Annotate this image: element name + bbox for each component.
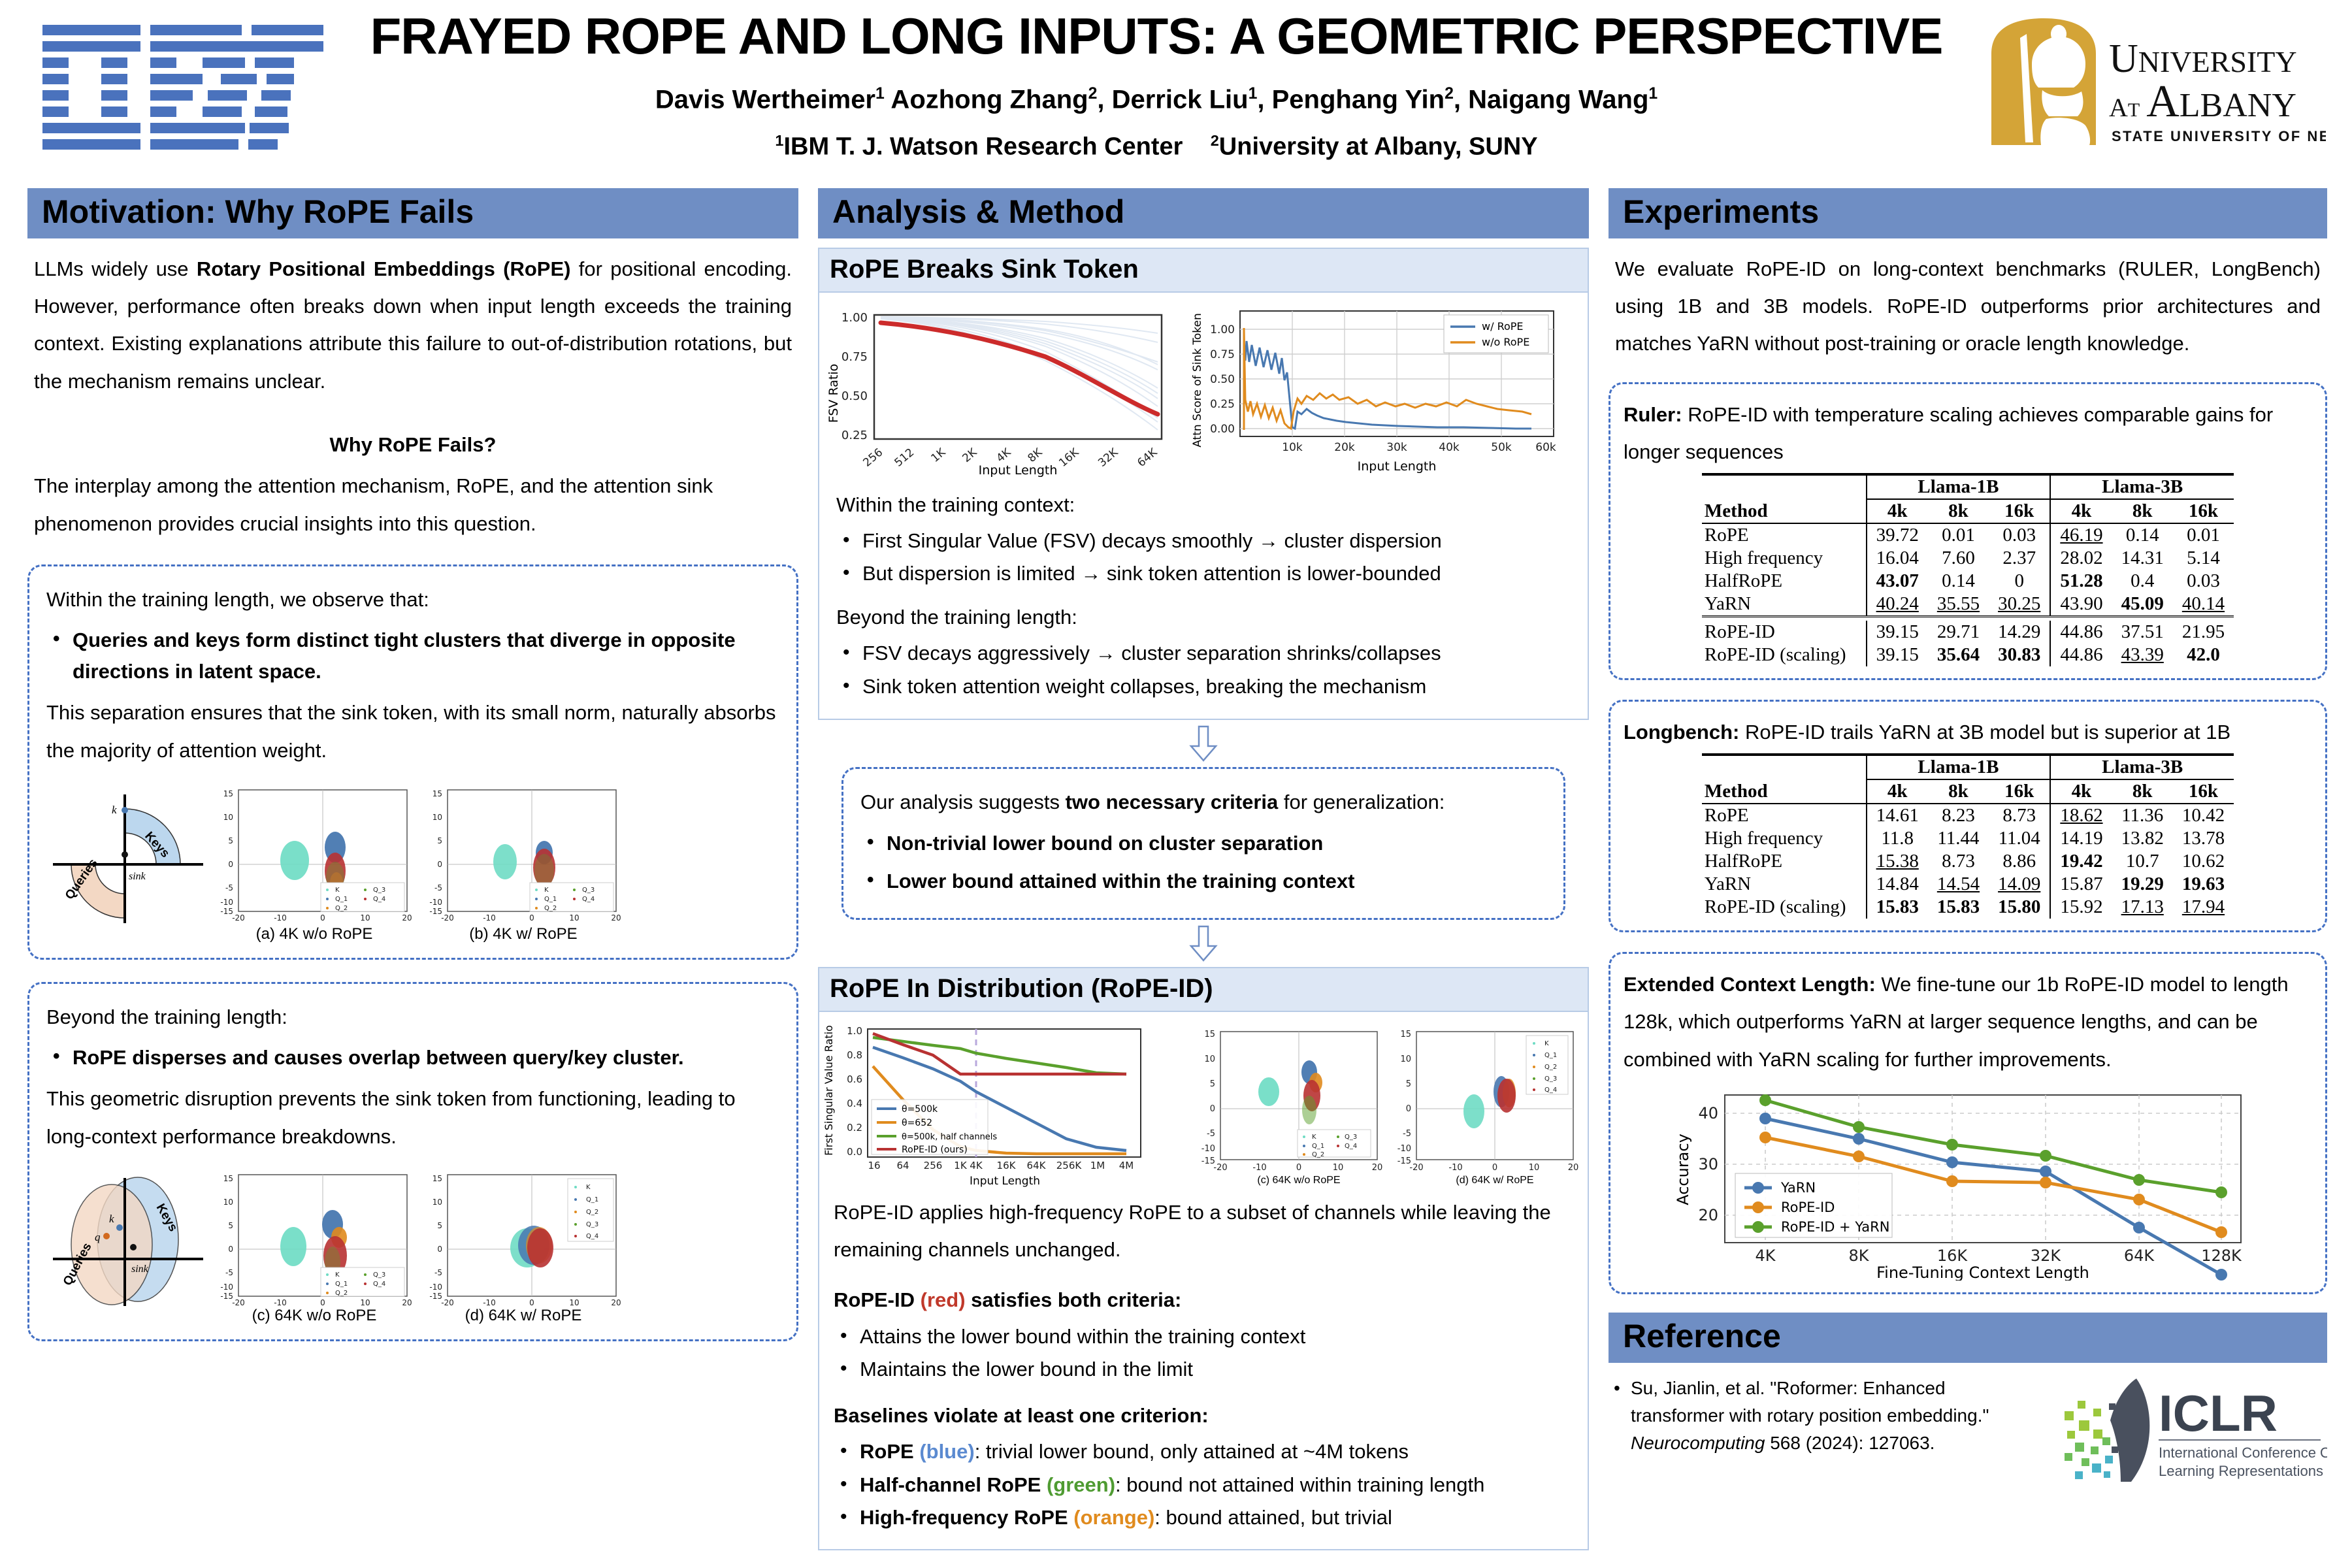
svg-text:-10: -10 (220, 898, 233, 907)
svg-text:Q_1: Q_1 (335, 1281, 348, 1288)
svg-text:30: 30 (1698, 1155, 1718, 1173)
arrow-down-icon-2 (1189, 925, 1218, 962)
svg-text:10: 10 (433, 813, 442, 822)
svg-text:4K: 4K (1755, 1247, 1776, 1265)
svg-text:15: 15 (1204, 1030, 1215, 1039)
svg-text:Q_3: Q_3 (586, 1221, 598, 1228)
group-header: Llama-1B (1867, 755, 2051, 779)
svg-text:Q_1: Q_1 (1312, 1143, 1324, 1150)
svg-text:Q_3: Q_3 (373, 1271, 385, 1279)
column-motivation: Motivation: Why RoPE Fails LLMs widely u… (27, 188, 798, 1341)
cell-value: 39.15 (1867, 644, 1928, 666)
iclr-logo: ICLR International Conference On Learnin… (2053, 1375, 2327, 1486)
chart-fsv-ratio: FSV Ratio 1.000.75 0.500.25 (823, 302, 1189, 478)
longbench-table-body: RoPE14.618.238.7318.6211.3610.42High fre… (1702, 804, 2234, 919)
svg-text:-10: -10 (220, 1282, 233, 1292)
figure-caption-b: (b) 4K w/ RoPE (419, 925, 628, 943)
svg-text:K: K (1544, 1040, 1549, 1047)
table-row: High frequency16.047.602.3728.0214.315.1… (1702, 547, 2234, 570)
svg-text:2K: 2K (960, 445, 980, 465)
motivation-intro-paragraph: LLMs widely use Rotary Positional Embedd… (34, 250, 792, 400)
svg-text:1.0: 1.0 (847, 1025, 862, 1037)
svg-text:5: 5 (1210, 1079, 1215, 1089)
svg-text:15: 15 (433, 1174, 442, 1183)
svg-text:-5: -5 (225, 883, 233, 892)
panel-title-rope-id: RoPE In Distribution (RoPE-ID) (819, 968, 1588, 1012)
svg-text:Q_1: Q_1 (544, 896, 557, 903)
svg-text:0: 0 (1492, 1163, 1497, 1173)
svg-text:sink: sink (129, 871, 146, 882)
cell-value: 15.83 (1928, 896, 1989, 919)
svg-text:0: 0 (1296, 1163, 1301, 1173)
svg-text:UNIVERSITY: UNIVERSITY (2109, 37, 2297, 81)
svg-text:-10: -10 (1448, 1163, 1462, 1173)
cell-value: 40.14 (2173, 593, 2234, 617)
cell-value: 0.4 (2112, 570, 2173, 593)
svg-text:0: 0 (1210, 1104, 1215, 1114)
svg-text:-20: -20 (1213, 1163, 1227, 1173)
observation-box-within-training: Within the training length, we observe t… (27, 564, 798, 960)
list-item: Half-channel RoPE (green): bound not att… (834, 1470, 1573, 1501)
cell-value: 14.19 (2050, 827, 2112, 850)
cell-value: 13.78 (2173, 827, 2234, 850)
cell-value: 14.84 (1867, 873, 1928, 896)
svg-text:40k: 40k (1439, 441, 1460, 454)
cell-value: 8.86 (1989, 850, 2050, 873)
iclr-wordmark: ICLR (2159, 1384, 2278, 1442)
cell-value: 7.60 (1928, 547, 1989, 570)
svg-text:20: 20 (402, 1298, 412, 1307)
iclr-subtitle-line1: International Conference On (2159, 1445, 2327, 1461)
svg-text:-10: -10 (274, 913, 287, 923)
list-item: RoPE disperses and causes overlap betwee… (46, 1042, 779, 1073)
cell-value: 29.71 (1928, 621, 1989, 644)
svg-text:15: 15 (1400, 1030, 1411, 1039)
svg-text:64K: 64K (1027, 1160, 1047, 1171)
column-header-method: Method (1702, 779, 1867, 804)
cell-method: YaRN (1702, 873, 1867, 896)
column-header-method: Method (1702, 499, 1867, 523)
svg-text:RoPE-ID (ours): RoPE-ID (ours) (902, 1145, 968, 1155)
cell-value: 43.90 (2050, 593, 2112, 617)
criteria-box: Our analysis suggests two necessary crit… (841, 767, 1565, 919)
list-item: FSV decays aggressively → cluster separa… (836, 638, 1571, 669)
author-list: Davis Wertheimer1 Aozhong Zhang2, Derric… (340, 85, 1973, 114)
beyond-context-bullets: FSV decays aggressively → cluster separa… (836, 638, 1571, 702)
panel-title-rope-breaks: RoPE Breaks Sink Token (819, 249, 1588, 293)
svg-text:1.00: 1.00 (1210, 323, 1235, 336)
cell-value: 37.51 (2112, 621, 2173, 644)
svg-text:40: 40 (1698, 1104, 1718, 1122)
svg-text:Input Length: Input Length (979, 463, 1058, 478)
affiliation-list: 1IBM T. J. Watson Research Center 2Unive… (340, 132, 1973, 161)
svg-text:Q_1: Q_1 (1544, 1052, 1557, 1059)
svg-text:-15: -15 (429, 1292, 442, 1301)
svg-text:Q_3: Q_3 (582, 887, 595, 894)
svg-text:K: K (586, 1184, 591, 1191)
svg-text:-20: -20 (1409, 1163, 1423, 1173)
table-row: High frequency11.811.4411.0414.1913.8213… (1702, 827, 2234, 850)
svg-text:K: K (1312, 1134, 1316, 1141)
within-context-bullets: First Singular Value (FSV) decays smooth… (836, 526, 1571, 589)
svg-text:-10: -10 (483, 1298, 496, 1307)
figure-caption-a: (a) 4K w/o RoPE (210, 925, 419, 943)
svg-text:20: 20 (402, 913, 412, 923)
beyond-lead: Beyond the training length: (46, 998, 779, 1036)
svg-text:Attn Score of Sink Token: Attn Score of Sink Token (1191, 313, 1204, 448)
svg-text:Q_2: Q_2 (544, 905, 557, 912)
svg-text:0.6: 0.6 (847, 1073, 862, 1085)
svg-text:-5: -5 (1403, 1129, 1411, 1139)
svg-text:Accuracy: Accuracy (1674, 1134, 1692, 1205)
svg-text:1.00: 1.00 (841, 311, 868, 325)
cell-value: 39.72 (1867, 523, 1928, 547)
group-header: Llama-3B (2050, 474, 2234, 499)
within-context-lead: Within the training context: (836, 486, 1571, 523)
svg-text:32K: 32K (1096, 445, 1121, 469)
svg-text:20k: 20k (1334, 441, 1355, 454)
svg-text:-10: -10 (429, 1282, 442, 1292)
svg-text:-20: -20 (441, 913, 454, 923)
section-header-reference: Reference (1609, 1313, 2327, 1363)
scatter-plot-64k-with-rope: 1510 50 -5-10 -15 K Q_1 Q_2 (419, 1164, 628, 1308)
ruler-caption: Ruler: RoPE-ID with temperature scaling … (1624, 396, 2312, 471)
svg-text:50k: 50k (1491, 441, 1512, 454)
cell-method: HalfRoPE (1702, 570, 1867, 593)
svg-text:0.2: 0.2 (847, 1122, 862, 1134)
svg-text:20: 20 (611, 913, 621, 923)
svg-text:-10: -10 (1252, 1163, 1266, 1173)
svg-text:Q_2: Q_2 (335, 905, 348, 912)
figure-caption-c: (c) 64K w/o RoPE (210, 1307, 419, 1325)
cell-value: 44.86 (2050, 644, 2112, 666)
iclr-subtitle-line2: Learning Representations (2159, 1463, 2323, 1479)
cell-value: 11.8 (1867, 827, 1928, 850)
cell-value: 14.61 (1867, 804, 1928, 827)
svg-text:0: 0 (437, 860, 442, 869)
list-item: Sink token attention weight collapses, b… (836, 672, 1571, 702)
svg-text:20: 20 (1568, 1163, 1579, 1173)
scatter-plot-mid-64k-with-rope: 15105 0-5-10 -15 K Q_1 Q_2 Q_3 (1384, 1019, 1580, 1188)
panel-rope-in-distribution: RoPE In Distribution (RoPE-ID) First Sin… (818, 967, 1589, 1550)
list-item: RoPE (blue): trivial lower bound, only a… (834, 1437, 1573, 1467)
svg-text:10: 10 (1529, 1163, 1540, 1173)
cell-method: HalfRoPE (1702, 850, 1867, 873)
column-header: 4k (1867, 779, 1928, 804)
svg-text:0.00: 0.00 (1210, 423, 1235, 436)
poster-header: FRAYED ROPE AND LONG INPUTS: A GEOMETRIC… (0, 0, 2352, 175)
svg-text:4K: 4K (970, 1160, 983, 1171)
panel-rope-breaks-sink-token: RoPE Breaks Sink Token FSV Ratio 1.000.7… (818, 248, 1589, 721)
observation-tail: This separation ensures that the sink to… (46, 694, 779, 769)
svg-text:First Singular Value Ratio: First Singular Value Ratio (823, 1025, 835, 1156)
svg-text:-10: -10 (483, 913, 496, 923)
svg-text:Input Length: Input Length (970, 1175, 1040, 1188)
cell-value: 19.63 (2173, 873, 2234, 896)
cell-value: 39.15 (1867, 621, 1928, 644)
svg-text:16: 16 (868, 1160, 880, 1171)
satisfies-bullets: Attains the lower bound within the train… (834, 1322, 1573, 1385)
scatter-plot-64k-without-rope: 1510 50 -5-10 -15 K Q_3 Q_1 (210, 1164, 419, 1308)
extended-context-box: Extended Context Length: We fine-tune ou… (1609, 952, 2327, 1294)
svg-text:-5: -5 (1207, 1129, 1215, 1139)
ibm-logo (39, 20, 327, 157)
svg-text:0.8: 0.8 (847, 1049, 862, 1061)
cell-value: 10.42 (2173, 804, 2234, 827)
svg-text:K: K (544, 887, 549, 894)
svg-text:K: K (335, 887, 340, 894)
cell-value: 40.24 (1867, 593, 1928, 617)
beyond-tail: This geometric disruption prevents the s… (46, 1080, 779, 1155)
cell-value: 14.54 (1928, 873, 1989, 896)
svg-text:-5: -5 (434, 883, 442, 892)
svg-text:30k: 30k (1386, 441, 1407, 454)
cell-value: 42.0 (2173, 644, 2234, 666)
cell-value: 44.86 (2050, 621, 2112, 644)
cell-method: High frequency (1702, 547, 1867, 570)
svg-text:-15: -15 (220, 907, 233, 916)
svg-text:RoPE-ID + YaRN: RoPE-ID + YaRN (1781, 1219, 1889, 1235)
svg-text:10: 10 (433, 1198, 442, 1207)
table-row: YaRN40.2435.5530.2543.9045.0940.14 (1702, 593, 2234, 617)
cell-method: RoPE-ID (scaling) (1702, 644, 1867, 666)
svg-text:q: q (95, 1231, 101, 1243)
svg-text:10: 10 (569, 913, 579, 923)
svg-text:FSV Ratio: FSV Ratio (826, 363, 841, 422)
svg-text:0.50: 0.50 (841, 389, 868, 403)
svg-text:Q_1: Q_1 (335, 896, 348, 903)
svg-text:256: 256 (924, 1160, 943, 1171)
svg-text:0.0: 0.0 (847, 1146, 862, 1158)
svg-text:-10: -10 (429, 898, 442, 907)
cell-value: 19.29 (2112, 873, 2173, 896)
svg-text:-5: -5 (434, 1268, 442, 1277)
observation-lead: Within the training length, we observe t… (46, 581, 779, 618)
svg-text:w/o RoPE: w/o RoPE (1482, 336, 1529, 348)
svg-text:0: 0 (320, 913, 325, 923)
svg-text:Q_2: Q_2 (1312, 1151, 1324, 1158)
cell-value: 0.01 (2173, 523, 2234, 547)
scatter-plot-4k-without-rope: 1510 50 -5-10 -15 K Q_3 Q_1 (210, 779, 419, 926)
svg-text:Q_3: Q_3 (373, 887, 385, 894)
svg-text:0.75: 0.75 (841, 350, 868, 364)
svg-text:1K: 1K (954, 1160, 968, 1171)
cell-method: High frequency (1702, 827, 1867, 850)
column-header: 8k (2112, 779, 2173, 804)
ruler-results-table: Llama-1B Llama-3B Method 4k 8k 16k 4k 8k… (1702, 473, 2234, 666)
satisfies-heading: RoPE-ID (red) satisfies both criteria: (834, 1281, 1573, 1318)
svg-text:4M: 4M (1119, 1160, 1134, 1171)
svg-text:15: 15 (433, 789, 442, 798)
cell-value: 19.42 (2050, 850, 2112, 873)
svg-text:θ=500k: θ=500k (902, 1104, 938, 1115)
cell-value: 11.04 (1989, 827, 2050, 850)
column-header: 8k (1928, 499, 1989, 523)
cell-value: 0.14 (2112, 523, 2173, 547)
svg-text:0.4: 0.4 (847, 1098, 862, 1109)
cell-value: 15.92 (2050, 896, 2112, 919)
svg-text:sink: sink (131, 1264, 149, 1275)
cell-value: 11.44 (1928, 827, 1989, 850)
svg-text:10: 10 (223, 813, 233, 822)
svg-text:5: 5 (1406, 1079, 1411, 1089)
svg-text:-20: -20 (232, 913, 245, 923)
svg-text:0: 0 (228, 860, 233, 869)
svg-text:Q_4: Q_4 (373, 1281, 385, 1288)
longbench-results-box: Longbench: RoPE-ID trails YaRN at 3B mod… (1609, 700, 2327, 932)
chart-accuracy-vs-context-length: Accuracy 403020 (1667, 1085, 2268, 1281)
svg-text:Q_2: Q_2 (1544, 1064, 1557, 1071)
criteria-lead: Our analysis suggests two necessary crit… (860, 783, 1546, 821)
cell-method: RoPE (1702, 804, 1867, 827)
cell-value: 8.23 (1928, 804, 1989, 827)
svg-text:5: 5 (228, 836, 233, 845)
svg-text:60k: 60k (1535, 441, 1556, 454)
svg-text:-10: -10 (1397, 1144, 1411, 1154)
svg-text:Input Length: Input Length (1358, 459, 1437, 474)
list-item: Attains the lower bound within the train… (834, 1322, 1573, 1352)
column-header: 8k (2112, 499, 2173, 523)
svg-text:-10: -10 (274, 1298, 287, 1307)
ruler-results-box: Ruler: RoPE-ID with temperature scaling … (1609, 382, 2327, 680)
svg-text:-15: -15 (429, 907, 442, 916)
cell-value: 0 (1989, 570, 2050, 593)
svg-text:10k: 10k (1282, 441, 1303, 454)
svg-text:STATE UNIVERSITY OF NEW YORK: STATE UNIVERSITY OF NEW YORK (2112, 128, 2326, 144)
svg-text:Q_4: Q_4 (586, 1233, 598, 1240)
cell-value: 45.09 (2112, 593, 2173, 617)
svg-text:5: 5 (437, 836, 442, 845)
cell-value: 8.73 (1989, 804, 2050, 827)
cell-method: RoPE-ID (scaling) (1702, 896, 1867, 919)
cell-value: 14.29 (1989, 621, 2050, 644)
svg-text:Q_4: Q_4 (1345, 1143, 1357, 1150)
svg-text:0.25: 0.25 (841, 429, 868, 442)
cell-value: 13.82 (2112, 827, 2173, 850)
svg-text:0: 0 (320, 1298, 325, 1307)
cell-value: 30.25 (1989, 593, 2050, 617)
geometry-diagram-64k: k q sink Keys Queries (46, 1168, 210, 1308)
observation-box-beyond-training: Beyond the training length: RoPE dispers… (27, 982, 798, 1341)
cell-value: 11.36 (2112, 804, 2173, 827)
svg-text:-15: -15 (220, 1292, 233, 1301)
svg-text:5: 5 (228, 1221, 233, 1230)
cell-value: 10.7 (2112, 850, 2173, 873)
experiments-intro: We evaluate RoPE-ID on long-context benc… (1615, 250, 2321, 363)
section-header-analysis: Analysis & Method (818, 188, 1589, 238)
svg-text:20: 20 (1698, 1206, 1718, 1224)
svg-text:w/ RoPE: w/ RoPE (1482, 320, 1524, 333)
svg-text:10: 10 (1333, 1163, 1344, 1173)
chart-first-singular-value-ratio: First Singular Value Ratio 1.00.80.6 0.4… (822, 1019, 1188, 1188)
scatter-plot-mid-64k-without-rope: 15105 0-5-10 -15 K Q_3 Q_1 Q_ (1188, 1019, 1384, 1188)
section-header-experiments: Experiments (1609, 188, 2327, 238)
svg-text:20: 20 (1372, 1163, 1383, 1173)
svg-text:4K: 4K (994, 445, 1014, 465)
svg-text:15: 15 (223, 789, 233, 798)
svg-text:10: 10 (223, 1198, 233, 1207)
column-header: 16k (2173, 499, 2234, 523)
criteria-bullets: Non-trivial lower bound on cluster separ… (860, 828, 1546, 897)
figure-caption-c-mid: (c) 64K w/o RoPE (1257, 1175, 1340, 1186)
chart-attn-score-sink-token: Attn Score of Sink Token 1.000.750.50 0.… (1189, 302, 1575, 478)
svg-text:-20: -20 (232, 1298, 245, 1307)
figure-caption-d: (d) 64K w/ RoPE (419, 1307, 628, 1325)
svg-text:Q_3: Q_3 (1345, 1134, 1357, 1141)
cell-value: 18.62 (2050, 804, 2112, 827)
reference-entry: Su, Jianlin, et al. "Roformer: Enhanced … (1609, 1375, 2053, 1457)
svg-text:0: 0 (228, 1245, 233, 1254)
cell-value: 10.62 (2173, 850, 2234, 873)
svg-text:θ=652: θ=652 (902, 1118, 932, 1128)
svg-text:RoPE-ID: RoPE-ID (1781, 1200, 1835, 1215)
svg-text:0: 0 (1406, 1104, 1411, 1114)
svg-text:8K: 8K (1848, 1247, 1869, 1265)
column-header: 4k (1867, 499, 1928, 523)
svg-text:256: 256 (860, 446, 885, 469)
svg-text:256K: 256K (1056, 1160, 1083, 1171)
svg-text:Fine-Tuning Context Length: Fine-Tuning Context Length (1876, 1264, 2089, 1281)
cell-value: 16.04 (1867, 547, 1928, 570)
cell-value: 43.07 (1867, 570, 1928, 593)
svg-text:10: 10 (360, 913, 370, 923)
svg-text:1K: 1K (929, 445, 949, 465)
cell-value: 51.28 (2050, 570, 2112, 593)
table-row: RoPE-ID (scaling)39.1535.6430.8344.8643.… (1702, 644, 2234, 666)
list-item: Maintains the lower bound in the limit (834, 1354, 1573, 1385)
table-row: RoPE39.720.010.0346.190.140.01 (1702, 523, 2234, 547)
svg-text:8K: 8K (1026, 445, 1045, 465)
column-header: 4k (2050, 499, 2112, 523)
cell-method: YaRN (1702, 593, 1867, 617)
ruler-table-body: RoPE39.720.010.0346.190.140.01High frequ… (1702, 523, 2234, 666)
longbench-results-table: Llama-1B Llama-3B Method 4k 8k 16k 4k 8k… (1702, 753, 2234, 919)
column-header: 16k (2173, 779, 2234, 804)
cell-value: 0.03 (1989, 523, 2050, 547)
cell-value: 0.14 (1928, 570, 1989, 593)
cell-value: 28.02 (2050, 547, 2112, 570)
svg-text:Q_4: Q_4 (373, 896, 385, 903)
svg-text:10: 10 (1204, 1054, 1215, 1064)
svg-text:0: 0 (437, 1245, 442, 1254)
cell-method: RoPE-ID (1702, 621, 1867, 644)
list-item: But dispersion is limited → sink token a… (836, 559, 1571, 589)
column-header: 16k (1989, 779, 2050, 804)
svg-text:Q_4: Q_4 (582, 896, 595, 903)
longbench-caption: Longbench: RoPE-ID trails YaRN at 3B mod… (1624, 713, 2312, 751)
svg-text:64K: 64K (1135, 445, 1160, 469)
cell-value: 15.80 (1989, 896, 2050, 919)
svg-text:0.25: 0.25 (1210, 398, 1235, 411)
violate-bullets: RoPE (blue): trivial lower bound, only a… (834, 1437, 1573, 1533)
list-item: Queries and keys form distinct tight clu… (46, 625, 779, 687)
beyond-bullets: RoPE disperses and causes overlap betwee… (46, 1042, 779, 1073)
cell-value: 15.87 (2050, 873, 2112, 896)
list-item: First Singular Value (FSV) decays smooth… (836, 526, 1571, 557)
svg-text:0.75: 0.75 (1210, 348, 1235, 361)
cell-value: 43.39 (2112, 644, 2173, 666)
svg-text:512: 512 (892, 446, 917, 469)
table-row: RoPE-ID (scaling)15.8315.8315.8015.9217.… (1702, 896, 2234, 919)
university-at-albany-logo: UNIVERSITY AT ALBANY STATE UNIVERSITY OF… (1986, 14, 2326, 157)
svg-text:Q_2: Q_2 (335, 1290, 348, 1297)
table-row: HalfRoPE15.388.738.8619.4210.710.62 (1702, 850, 2234, 873)
why-rope-fails-body: The interplay among the attention mechan… (34, 467, 792, 542)
table-row: YaRN14.8414.5414.0915.8719.2919.63 (1702, 873, 2234, 896)
section-header-motivation: Motivation: Why RoPE Fails (27, 188, 798, 238)
svg-text:Q_4: Q_4 (1544, 1086, 1557, 1094)
svg-text:-20: -20 (441, 1298, 454, 1307)
